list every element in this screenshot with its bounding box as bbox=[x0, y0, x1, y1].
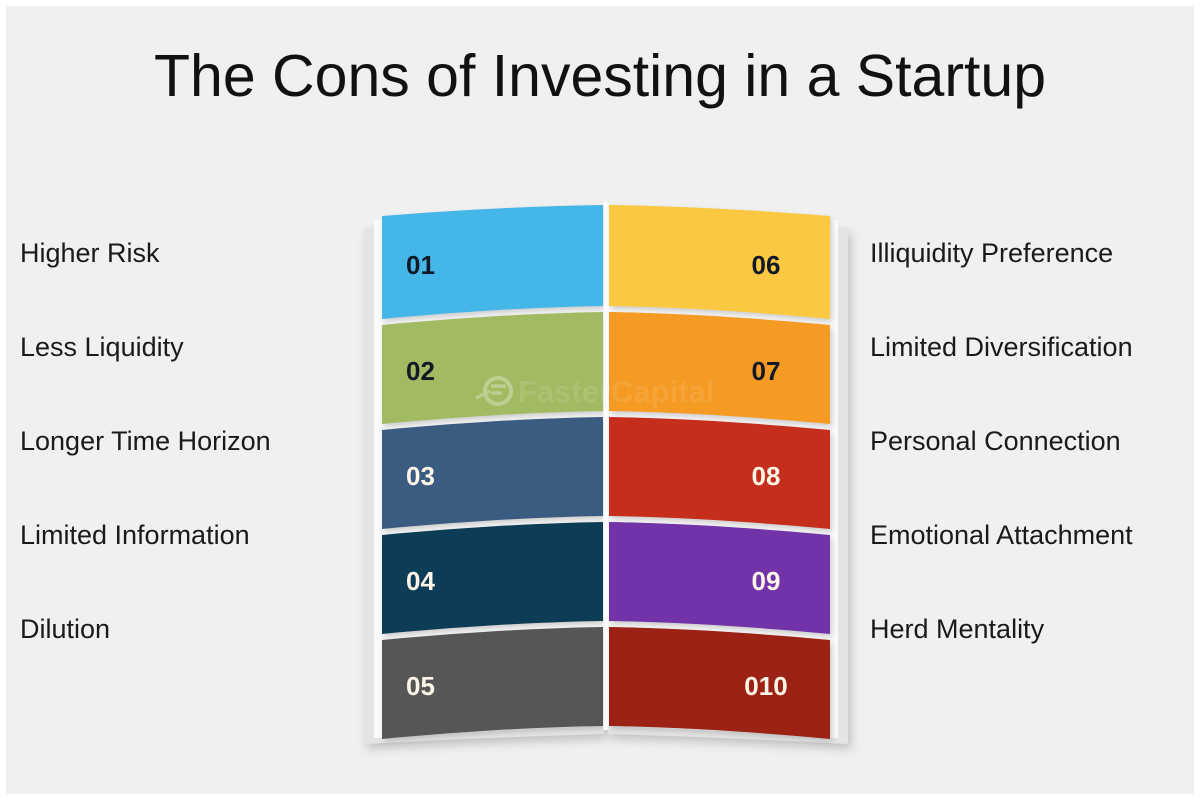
band-number-010: 010 bbox=[744, 671, 787, 701]
watermark-text: FasterCapital bbox=[518, 374, 714, 409]
book-spine bbox=[604, 202, 609, 730]
band-09[interactable] bbox=[609, 522, 830, 634]
label-left-5: Dilution bbox=[14, 582, 110, 676]
label-right-3: Personal Connection bbox=[864, 394, 1121, 488]
band-08[interactable] bbox=[609, 417, 830, 529]
band-number-06: 06 bbox=[752, 250, 781, 280]
label-right-4: Emotional Attachment bbox=[864, 488, 1133, 582]
right-page-bands bbox=[609, 205, 830, 739]
left-label-column: Higher Risk Less Liquidity Longer Time H… bbox=[14, 206, 394, 676]
open-book-diagram: FasterCapital 01 02 03 04 05 06 07 08 09… bbox=[346, 186, 866, 766]
band-number-02: 02 bbox=[406, 356, 435, 386]
label-left-3: Longer Time Horizon bbox=[14, 394, 271, 488]
band-number-01: 01 bbox=[406, 250, 435, 280]
label-left-1: Higher Risk bbox=[14, 206, 160, 300]
band-number-05: 05 bbox=[406, 671, 435, 701]
infographic-canvas: The Cons of Investing in a Startup Highe… bbox=[6, 6, 1194, 794]
band-number-08: 08 bbox=[752, 461, 781, 491]
band-06[interactable] bbox=[609, 205, 830, 319]
label-left-2: Less Liquidity bbox=[14, 300, 184, 394]
label-right-1: Illiquidity Preference bbox=[864, 206, 1113, 300]
label-right-5: Herd Mentality bbox=[864, 582, 1044, 676]
page-title: The Cons of Investing in a Startup bbox=[6, 42, 1194, 110]
label-left-4: Limited Information bbox=[14, 488, 250, 582]
band-number-03: 03 bbox=[406, 461, 435, 491]
label-right-2: Limited Diversification bbox=[864, 300, 1133, 394]
band-010[interactable] bbox=[609, 627, 830, 739]
infographic-page: The Cons of Investing in a Startup Highe… bbox=[0, 0, 1200, 800]
band-number-09: 09 bbox=[752, 566, 781, 596]
right-label-column: Illiquidity Preference Limited Diversifi… bbox=[864, 206, 1200, 676]
band-number-07: 07 bbox=[752, 356, 781, 386]
band-number-04: 04 bbox=[406, 566, 435, 596]
